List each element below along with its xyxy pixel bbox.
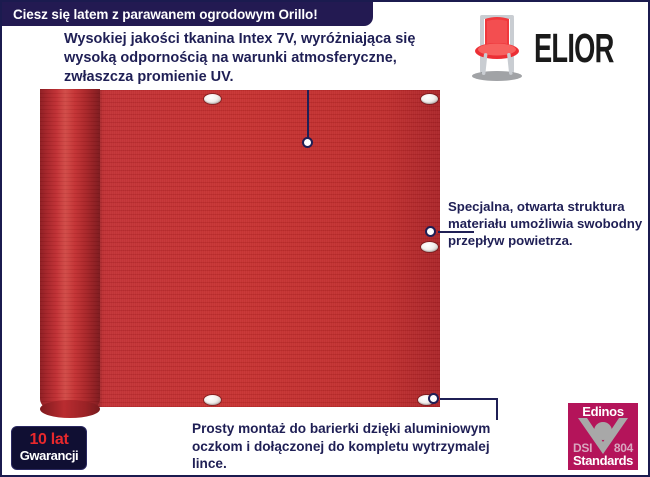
marker-dot-bottom [428, 393, 439, 404]
callout-air-flow: Specjalna, otwarta struktura materiału u… [448, 198, 648, 249]
callout-mounting: Prosty montaż do barierki dzięki alumini… [192, 420, 522, 473]
brand-logo: ELIOR [476, 12, 636, 84]
red-chair-icon [466, 13, 528, 83]
leader-line-bottom-h [440, 398, 498, 400]
callout-fabric-quality: Wysokiej jakości tkanina Intex 7V, wyróż… [64, 30, 464, 87]
marker-dot-top [302, 137, 313, 148]
product-image [40, 90, 440, 408]
fabric-roll [40, 89, 100, 415]
marker-dot-right [425, 226, 436, 237]
grommet-eyelet [421, 242, 438, 252]
warranty-label: Gwarancji [20, 449, 79, 463]
warranty-years: 10 lat [29, 432, 68, 449]
fabric-roll-cap [40, 400, 100, 418]
edinos-standards-badge: Edinos DSI 804 Standards [568, 403, 638, 470]
warranty-badge: 10 lat Gwarancji [11, 426, 87, 470]
edinos-name: Edinos [568, 404, 638, 419]
poster-frame: Ciesz się latem z parawanem ogrodowym Or… [0, 0, 650, 477]
fabric-panel [78, 90, 440, 407]
grommet-eyelet [204, 94, 221, 104]
leader-line-top [307, 90, 309, 142]
leader-line-bottom-v [496, 398, 498, 420]
grommet-eyelet [421, 94, 438, 104]
edinos-footer: Standards [568, 453, 638, 468]
page-title: Ciesz się latem z parawanem ogrodowym Or… [13, 7, 318, 22]
grommet-eyelet [204, 395, 221, 405]
title-banner: Ciesz się latem z parawanem ogrodowym Or… [2, 2, 373, 26]
brand-wordmark: ELIOR [534, 28, 614, 69]
